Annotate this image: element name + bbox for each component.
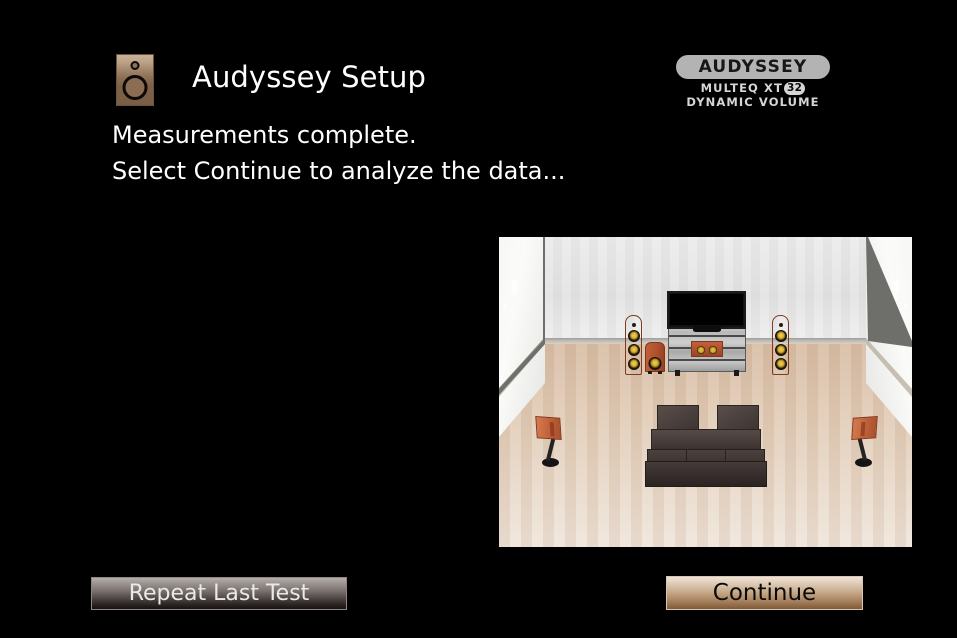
- subwoofer-foot: [658, 371, 662, 374]
- brand-multeq-text: MULTEQ XT: [701, 82, 783, 95]
- wall-highlight: [893, 279, 900, 295]
- status-message-line-1: Measurements complete.: [112, 117, 565, 153]
- repeat-last-test-label: Repeat Last Test: [129, 583, 310, 605]
- room-layout-illustration: [499, 237, 912, 547]
- audyssey-wordmark: AUDYSSEY: [676, 55, 830, 79]
- subwoofer-driver: [649, 357, 662, 370]
- television-stand-neck: [693, 326, 721, 332]
- tower-tweeter: [779, 323, 783, 327]
- wall-highlight: [511, 279, 518, 295]
- tower-driver: [775, 344, 787, 356]
- center-speaker-driver: [709, 346, 717, 354]
- subwoofer: [645, 342, 665, 372]
- front-left-tower-speaker: [625, 315, 642, 375]
- center-speaker-driver: [697, 346, 705, 354]
- subwoofer-foot: [648, 371, 652, 374]
- couch-base: [645, 461, 767, 487]
- brand-xt32-badge: 32: [784, 82, 805, 95]
- surround-right-speaker: [844, 417, 878, 469]
- surround-speaker-cabinet: [535, 416, 561, 440]
- front-right-tower-speaker: [772, 315, 789, 375]
- wall-highlight: [904, 303, 908, 310]
- brand-multeq-line: MULTEQ XT 32: [674, 82, 832, 95]
- tv-stand-leg-left: [675, 370, 680, 376]
- speaker-tweeter-icon: [131, 61, 140, 70]
- couch-backrest: [651, 429, 761, 451]
- page-title: Audyssey Setup: [192, 60, 426, 94]
- audyssey-brand-logo: AUDYSSEY MULTEQ XT 32 DYNAMIC VOLUME: [674, 55, 832, 113]
- center-speaker: [691, 341, 723, 357]
- continue-button[interactable]: Continue: [666, 576, 863, 610]
- tv-stand-leg-right: [734, 370, 739, 376]
- continue-label: Continue: [713, 582, 816, 605]
- tower-driver: [628, 330, 640, 342]
- surround-speaker-cabinet: [851, 416, 877, 440]
- header: Audyssey Setup AUDYSSEY MULTEQ XT 32 DYN…: [0, 0, 957, 115]
- message-block: Measurements complete. Select Continue t…: [112, 117, 565, 189]
- couch: [645, 405, 767, 489]
- tower-driver: [775, 330, 787, 342]
- surround-left-speaker: [536, 417, 570, 469]
- tower-driver: [628, 358, 640, 370]
- audyssey-wordmark-text: AUDYSSEY: [699, 59, 808, 76]
- speaker-woofer-icon: [123, 75, 148, 100]
- status-message-line-2: Select Continue to analyze the data...: [112, 153, 565, 189]
- repeat-last-test-button[interactable]: Repeat Last Test: [91, 577, 347, 610]
- speaker-stand-base: [542, 458, 559, 467]
- wall-highlight: [503, 303, 507, 310]
- brand-dynamic-volume-text: DYNAMIC VOLUME: [674, 96, 832, 109]
- speaker-icon: [116, 54, 154, 106]
- tower-tweeter: [632, 323, 636, 327]
- tower-driver: [628, 344, 640, 356]
- television-screen: [670, 294, 743, 325]
- tower-driver: [775, 358, 787, 370]
